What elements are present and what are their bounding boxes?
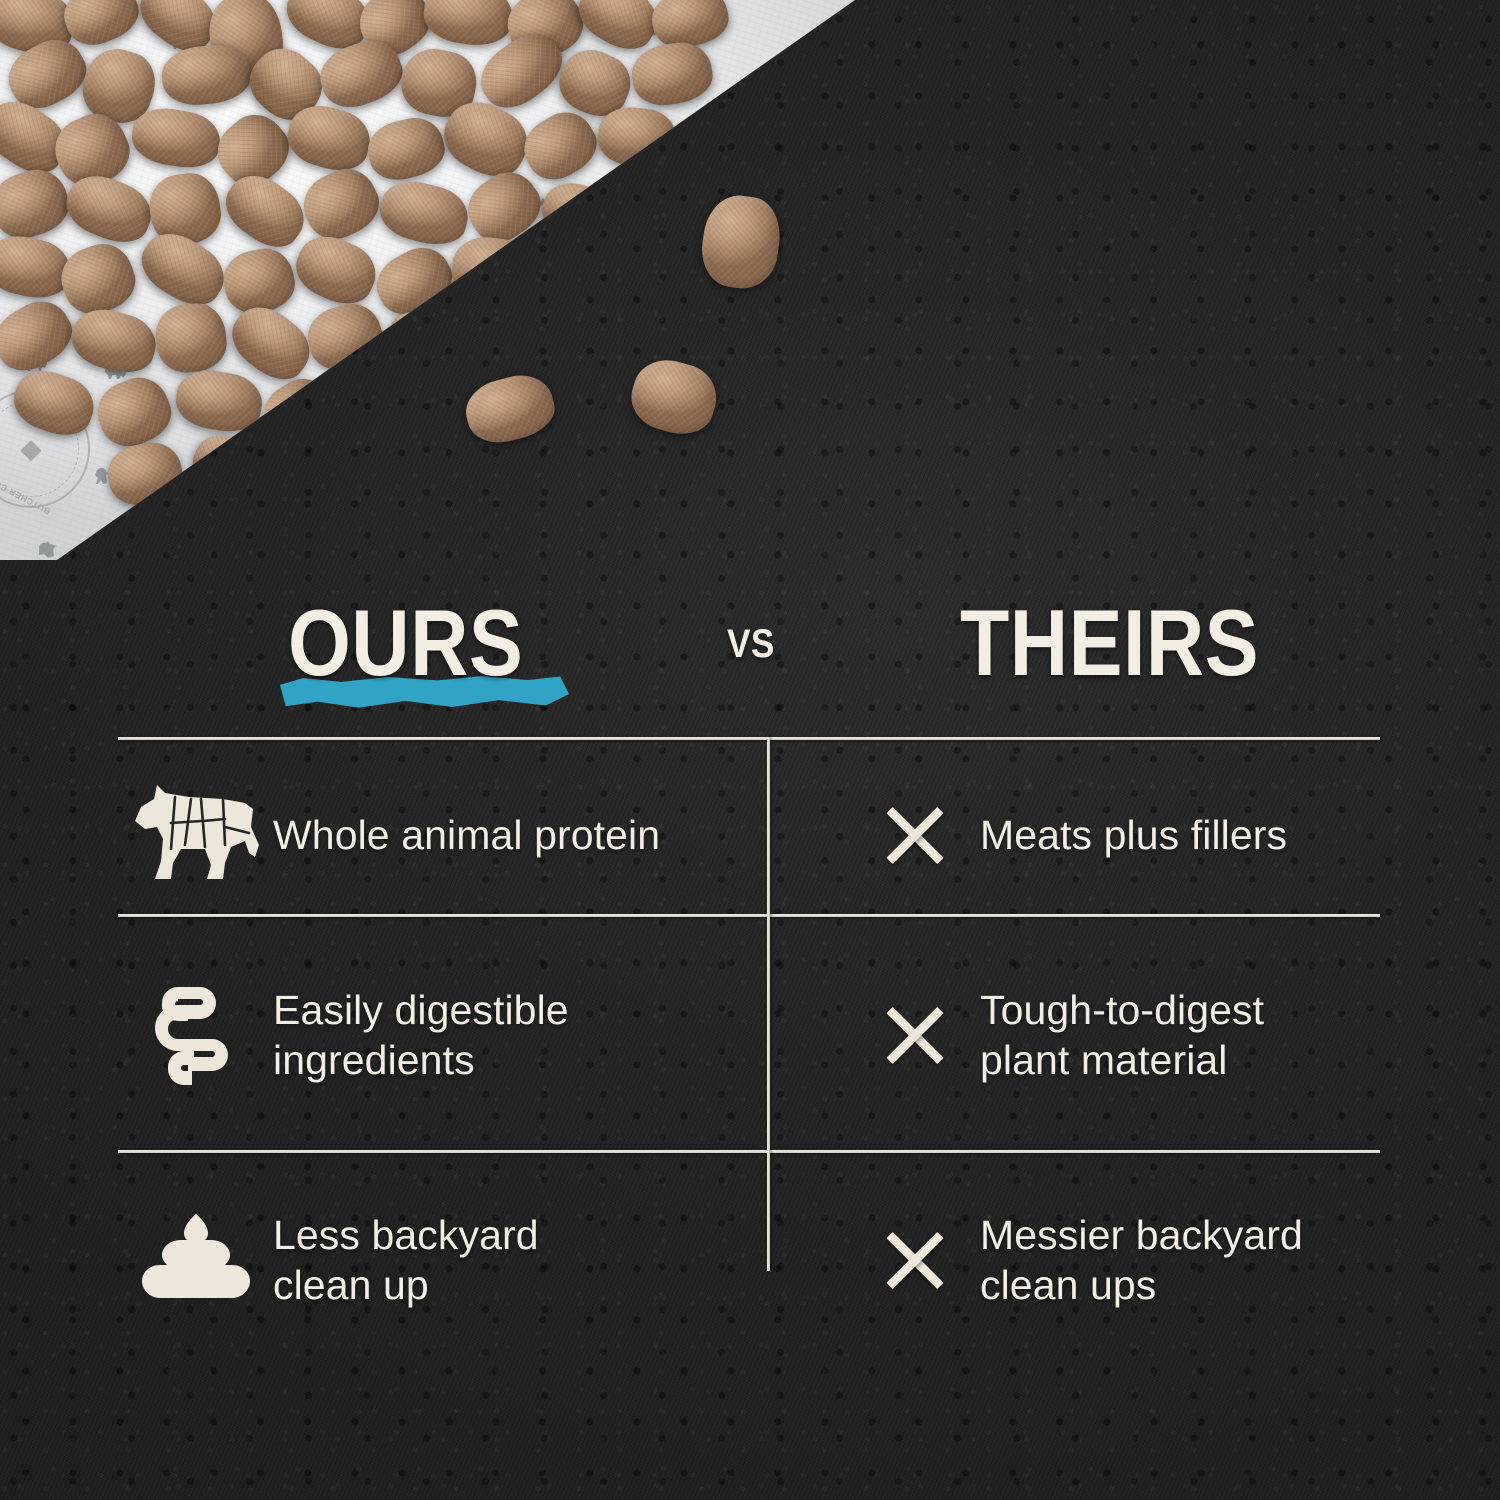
x-mark-icon [850, 804, 980, 866]
table-row: Meats plus fillers [850, 760, 1390, 910]
table-divider-line [118, 737, 1380, 740]
table-row: Tough-to-digest plant material [850, 940, 1390, 1130]
feature-label: Whole animal protein [273, 810, 660, 860]
comparison-table: OURS VS THEIRS Whole animal protein [0, 0, 1500, 1500]
table-column-divider [767, 737, 770, 1271]
column-header-ours: OURS [288, 596, 523, 690]
column-header-theirs: THEIRS [960, 596, 1259, 690]
feature-label: Tough-to-digest plant material [980, 985, 1264, 1085]
versus-label: VS [727, 622, 775, 667]
intestine-digestion-icon [118, 983, 273, 1087]
poop-icon [118, 1212, 273, 1308]
cow-butcher-cut-icon [118, 783, 273, 887]
feature-label: Messier backyard clean ups [980, 1210, 1303, 1310]
table-divider-line [118, 1150, 1380, 1153]
table-row: Messier backyard clean ups [850, 1185, 1390, 1335]
x-mark-icon [850, 1229, 980, 1291]
table-divider-line [118, 914, 1380, 917]
feature-label: Meats plus fillers [980, 810, 1287, 860]
table-row: Less backyard clean up [118, 1185, 763, 1335]
table-row: Whole animal protein [118, 760, 763, 910]
table-row: Easily digestible ingredients [118, 940, 763, 1130]
x-mark-icon [850, 1004, 980, 1066]
feature-label: Less backyard clean up [273, 1210, 539, 1310]
feature-label: Easily digestible ingredients [273, 985, 569, 1085]
